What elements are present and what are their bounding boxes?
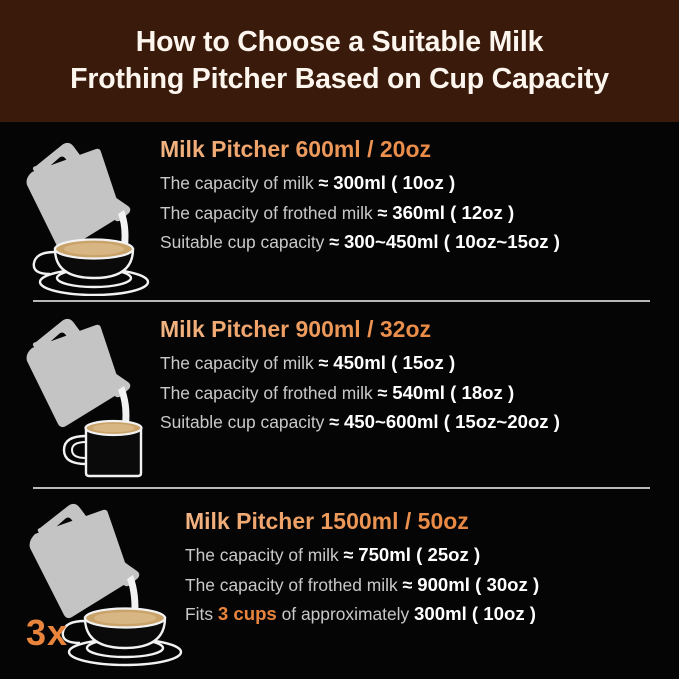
spec-row-milk-capacity: The capacity of milk ≈ 300ml ( 10oz )	[160, 168, 679, 198]
section-heading-900ml: Milk Pitcher 900ml / 32oz	[160, 316, 679, 343]
spec-value: 360ml ( 12oz )	[392, 202, 514, 223]
infographic-page: How to Choose a Suitable Milk Frothing P…	[0, 0, 679, 679]
approx-symbol: ≈	[378, 203, 388, 223]
page-title-line-2: Frothing Pitcher Based on Cup Capacity	[14, 61, 665, 98]
spec-label: Suitable cup capacity	[160, 232, 324, 252]
spec-value: 900ml ( 30oz )	[417, 574, 539, 595]
section-divider-1	[33, 300, 650, 302]
approx-symbol: ≈	[329, 232, 339, 252]
approx-symbol: ≈	[344, 545, 354, 565]
spec-row-milk-capacity: The capacity of milk ≈ 450ml ( 15oz )	[160, 348, 679, 378]
approx-symbol: ≈	[319, 173, 329, 193]
spec-label: Suitable cup capacity	[160, 412, 324, 432]
multiplier-badge-3x: 3x	[26, 612, 68, 654]
text-column-900ml: Milk Pitcher 900ml / 32oz The capacity o…	[160, 308, 679, 437]
spec-label: The capacity of milk	[185, 545, 339, 565]
pitcher-pouring-into-cup-with-saucer-icon	[0, 128, 160, 296]
spec-label: The capacity of milk	[160, 353, 314, 373]
section-divider-2	[33, 487, 650, 489]
approx-symbol: ≈	[319, 353, 329, 373]
pitcher-section-900ml: Milk Pitcher 900ml / 32oz The capacity o…	[0, 308, 679, 480]
page-title-line-1: How to Choose a Suitable Milk	[14, 24, 665, 61]
spec-label: The capacity of milk	[160, 173, 314, 193]
approx-symbol: ≈	[329, 412, 339, 432]
approx-symbol: ≈	[403, 575, 413, 595]
spec-value: 540ml ( 18oz )	[392, 382, 514, 403]
spec-row-suitable-cup: Suitable cup capacity ≈ 450~600ml ( 15oz…	[160, 407, 679, 437]
spec-row-suitable-cup: Suitable cup capacity ≈ 300~450ml ( 10oz…	[160, 227, 679, 257]
spec-value: 300ml ( 10oz )	[333, 172, 455, 193]
header-banner: How to Choose a Suitable Milk Frothing P…	[0, 0, 679, 122]
pitcher-pouring-into-mug-icon	[0, 308, 160, 480]
spec-highlight-cups: 3 cups	[218, 603, 277, 624]
spec-label: The capacity of frothed milk	[160, 203, 373, 223]
section-heading-1500ml: Milk Pitcher 1500ml / 50oz	[185, 508, 679, 535]
pitcher-section-1500ml: Milk Pitcher 1500ml / 50oz The capacity …	[0, 496, 679, 672]
spec-value: 450~600ml ( 15oz~20oz )	[344, 411, 560, 432]
pitcher-section-600ml: Milk Pitcher 600ml / 20oz The capacity o…	[0, 128, 679, 296]
section-heading-600ml: Milk Pitcher 600ml / 20oz	[160, 136, 679, 163]
spec-row-fits-cups: Fits 3 cups of approximately 300ml ( 10o…	[185, 599, 679, 629]
text-column-1500ml: Milk Pitcher 1500ml / 50oz The capacity …	[185, 496, 679, 629]
text-column-600ml: Milk Pitcher 600ml / 20oz The capacity o…	[160, 128, 679, 257]
spec-row-frothed-capacity: The capacity of frothed milk ≈ 360ml ( 1…	[160, 198, 679, 228]
illustration-600ml	[0, 128, 160, 296]
spec-value: 450ml ( 15oz )	[333, 352, 455, 373]
spec-label: The capacity of frothed milk	[185, 575, 398, 595]
spec-label-prefix: Fits	[185, 604, 213, 624]
spec-row-frothed-capacity: The capacity of frothed milk ≈ 900ml ( 3…	[185, 570, 679, 600]
spec-row-milk-capacity: The capacity of milk ≈ 750ml ( 25oz )	[185, 540, 679, 570]
approx-symbol: ≈	[378, 383, 388, 403]
spec-value: 300ml ( 10oz )	[414, 603, 536, 624]
spec-row-frothed-capacity: The capacity of frothed milk ≈ 540ml ( 1…	[160, 378, 679, 408]
illustration-900ml	[0, 308, 160, 480]
spec-label-middle: of approximately	[282, 604, 410, 624]
spec-value: 300~450ml ( 10oz~15oz )	[344, 231, 560, 252]
spec-value: 750ml ( 25oz )	[358, 544, 480, 565]
page-title: How to Choose a Suitable Milk Frothing P…	[0, 24, 679, 98]
spec-label: The capacity of frothed milk	[160, 383, 373, 403]
